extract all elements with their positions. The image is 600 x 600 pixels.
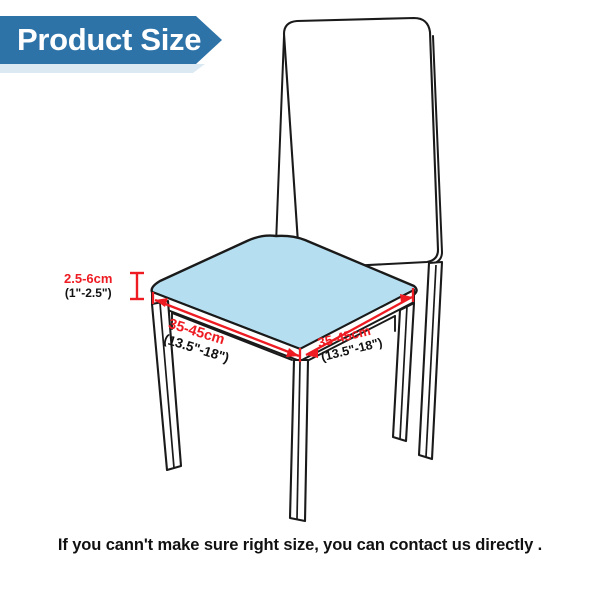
footer-note: If you cann't make sure right size, you …	[0, 536, 600, 555]
product-size-infographic: Product Size	[0, 0, 600, 600]
dimension-imperial-value: (1"-2.5")	[64, 287, 112, 300]
dimension-metric-value: 2.5-6cm	[64, 272, 112, 287]
chair-backrest	[284, 18, 438, 268]
dimension-label-seat-thickness: 2.5-6cm (1"-2.5")	[64, 272, 112, 300]
backrest-left-stile	[276, 36, 284, 244]
chair-illustration	[0, 0, 600, 600]
thickness-caliper-marker	[130, 273, 144, 299]
